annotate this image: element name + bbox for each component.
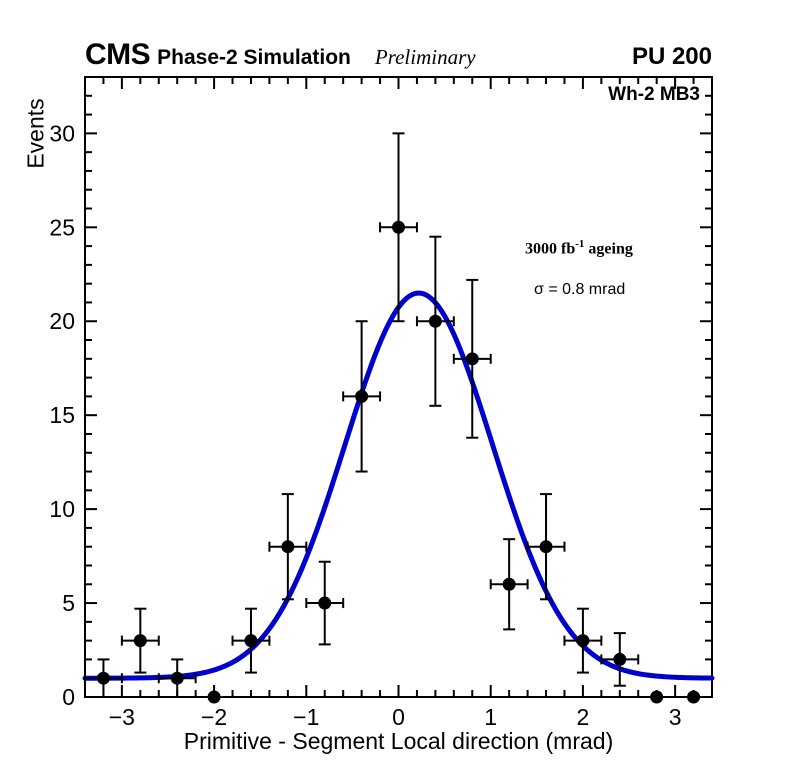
marker: [392, 221, 405, 234]
marker: [576, 634, 589, 647]
data-point: [601, 633, 638, 686]
marker: [650, 691, 663, 704]
marker: [208, 691, 221, 704]
marker: [318, 597, 331, 610]
data-point: [343, 321, 380, 471]
marker: [244, 634, 257, 647]
data-point: [306, 562, 343, 645]
y-tick-label: 25: [49, 214, 75, 240]
marker: [281, 540, 294, 553]
marker: [429, 315, 442, 328]
data-point: [687, 691, 700, 704]
x-tick-label: 0: [392, 704, 405, 730]
y-tick-label: 0: [62, 684, 75, 710]
x-tick-label: 2: [577, 704, 590, 730]
data-point: [417, 237, 454, 406]
marker: [134, 634, 147, 647]
data-point: [122, 609, 159, 673]
marker: [466, 352, 479, 365]
plot-canvas: CMS Phase-2 Simulation Preliminary PU 20…: [0, 0, 796, 772]
data-point: [528, 494, 565, 599]
data-point: [491, 539, 528, 629]
x-tick-label: 3: [669, 704, 682, 730]
marker: [503, 578, 516, 591]
y-tick-label: 20: [49, 308, 75, 334]
marker: [97, 672, 110, 685]
y-tick-label: 5: [62, 590, 75, 616]
plot-svg: −3−2−10123 051015202530: [0, 0, 796, 772]
y-tick-label: 30: [49, 120, 75, 146]
marker: [355, 390, 368, 403]
data-point: [208, 691, 221, 704]
marker: [613, 653, 626, 666]
data-point: [564, 609, 601, 673]
data-point: [650, 691, 663, 704]
data-point: [233, 609, 270, 673]
marker: [540, 540, 553, 553]
x-tick-label: −2: [201, 704, 227, 730]
gaussian-fit-curve: [85, 293, 712, 678]
y-tick-label: 10: [49, 496, 75, 522]
fit-curve: [85, 293, 712, 678]
x-tick-label: −3: [109, 704, 135, 730]
data-point: [85, 659, 122, 697]
data-points: [85, 133, 700, 703]
x-tick-label: 1: [484, 704, 497, 730]
data-point: [159, 659, 196, 697]
marker: [171, 672, 184, 685]
x-tick-label: −1: [293, 704, 319, 730]
marker: [687, 691, 700, 704]
y-tick-label: 15: [49, 402, 75, 428]
data-point: [269, 494, 306, 599]
